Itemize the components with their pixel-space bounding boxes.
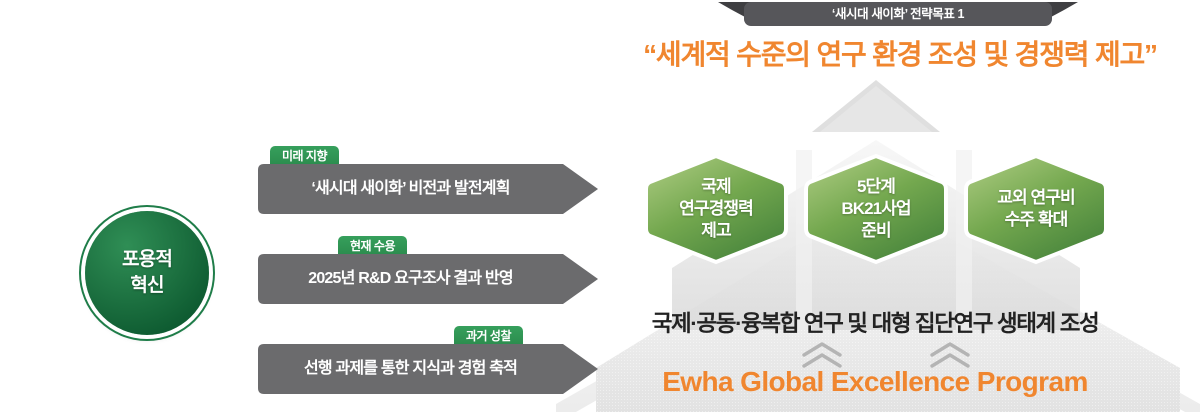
ecosystem-subtitle: 국제·공동·융복합 연구 및 대형 집단연구 생태계 조성 [590, 306, 1160, 338]
goal-hexagon-bk21: 5단계 BK21사업 준비 [803, 153, 949, 265]
hex1-line3: 제고 [679, 220, 753, 242]
double-chevron-up-icon [800, 342, 844, 368]
hex1-line1: 국제 [679, 176, 753, 198]
strategy-ribbon-banner: ‘새시대 새이화’ 전략목표 1 [718, 2, 1078, 26]
hex2-line1: 5단계 [841, 176, 910, 198]
goal-hexagon-international: 국제 연구경쟁력 제고 [643, 153, 789, 265]
arrow-tag-past: 과거 성찰 [454, 326, 523, 346]
arrow-label-past: 선행 과제를 통한 지식과 경험 축적 [258, 344, 563, 394]
arrow-tag-future: 미래 지향 [270, 146, 339, 166]
core-circle-line1: 포용적 [122, 247, 172, 273]
arrow-label-present: 2025년 R&D 요구조사 결과 반영 [258, 254, 563, 304]
double-chevron-up-icon [928, 342, 972, 368]
ribbon-label: ‘새시대 새이화’ 전략목표 1 [718, 2, 1078, 26]
hex2-line3: 준비 [841, 220, 910, 242]
core-circle-line2: 혁신 [130, 273, 163, 299]
hex1-line2: 연구경쟁력 [679, 198, 753, 220]
infographic-canvas: ‘새시대 새이화’ 전략목표 1 “세계적 수준의 연구 환경 조성 및 경쟁력… [0, 0, 1200, 412]
goal-hexagon-external-funding: 교외 연구비 수주 확대 [963, 153, 1109, 265]
hex3-line2: 수주 확대 [997, 209, 1075, 231]
arrow-tag-present: 현재 수용 [338, 236, 407, 256]
hex3-line1: 교외 연구비 [997, 187, 1075, 209]
core-concept-circle: 포용적 혁신 [85, 211, 209, 335]
page-title: “세계적 수준의 연구 환경 조성 및 경쟁력 제고” [600, 33, 1200, 73]
program-name: Ewha Global Excellence Program [590, 366, 1160, 398]
hex2-line2: BK21사업 [841, 198, 910, 220]
arrow-label-future: ‘새시대 새이화’ 비전과 발전계획 [258, 164, 563, 214]
